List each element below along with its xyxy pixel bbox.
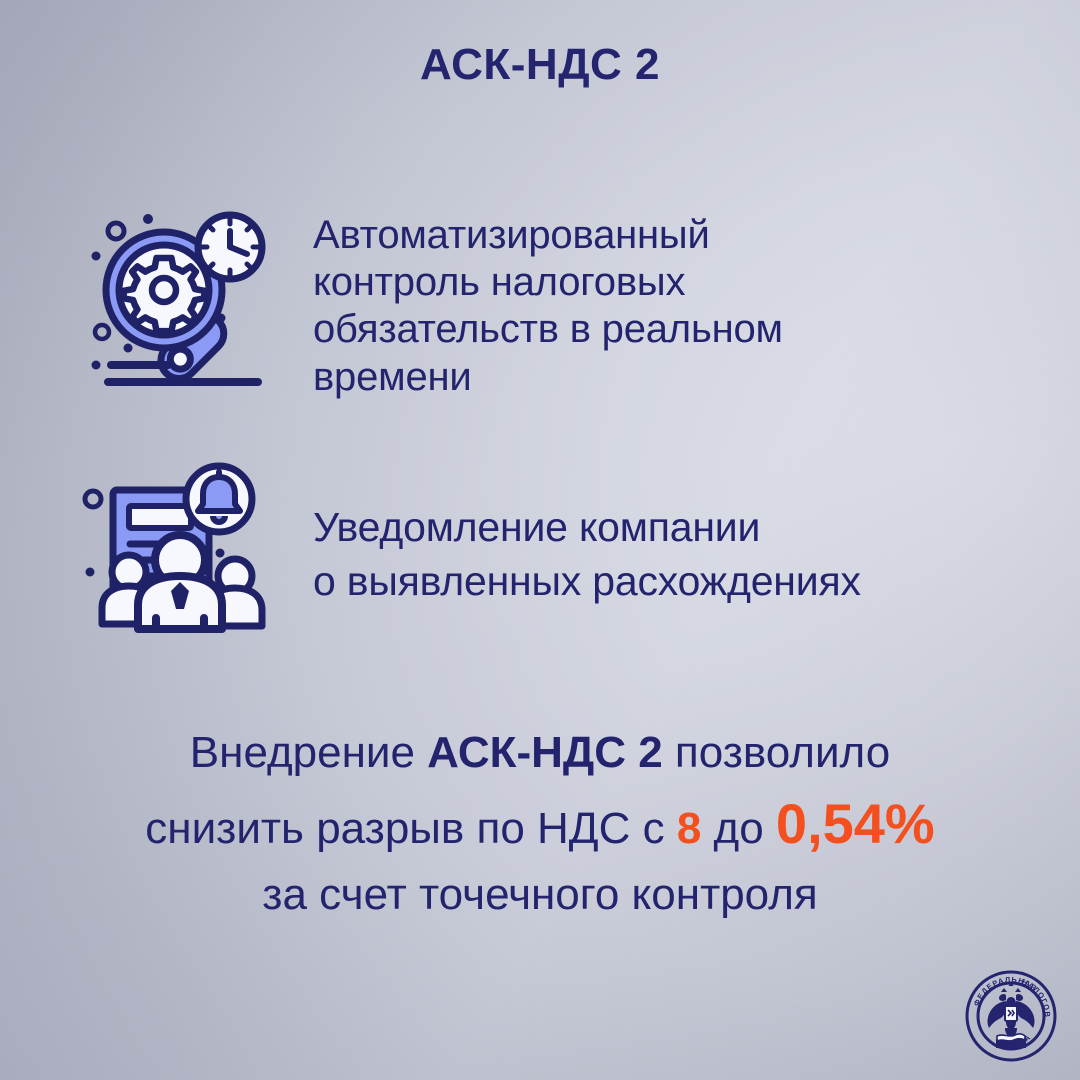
statement-line-1-prefix: Внедрение <box>190 728 427 777</box>
statement-block: Внедрение АСК-НДС 2 позволило снизить ра… <box>0 722 1080 926</box>
feature-row-automated-control: Автоматизированный контроль налоговых об… <box>80 200 1030 401</box>
statement-line-1-suffix: позволило <box>663 728 890 777</box>
statement-line-1-emphasis: АСК-НДС 2 <box>427 728 663 777</box>
statement-line-3: за счет точечного контроля <box>0 864 1080 926</box>
statement-value-to: 0,54% <box>776 792 935 855</box>
document-bell-people-icon <box>80 462 280 637</box>
statement-line-2-middle: до <box>701 804 776 853</box>
magnifier-gear-clock-icon <box>80 200 280 395</box>
feature-label-automated-control: Автоматизированный контроль налоговых об… <box>313 200 1030 401</box>
statement-line-1: Внедрение АСК-НДС 2 позволило <box>0 722 1080 784</box>
federal-tax-service-emblem: ФЕДЕРАЛЬНАЯ НАЛОГОВАЯ СЛУЖБА <box>965 970 1057 1062</box>
statement-value-from: 8 <box>677 804 701 853</box>
statement-line-2: снизить разрыв по НДС с 8 до 0,54% <box>0 784 1080 864</box>
page-title: АСК-НДС 2 <box>0 40 1080 90</box>
feature-label-company-notification: Уведомление компании о выявленных расхож… <box>313 462 1030 608</box>
statement-line-2-prefix: снизить разрыв по НДС с <box>145 804 677 853</box>
infographic-poster: АСК-НДС 2 <box>0 0 1080 1080</box>
feature-row-company-notification: Уведомление компании о выявленных расхож… <box>80 462 1030 637</box>
